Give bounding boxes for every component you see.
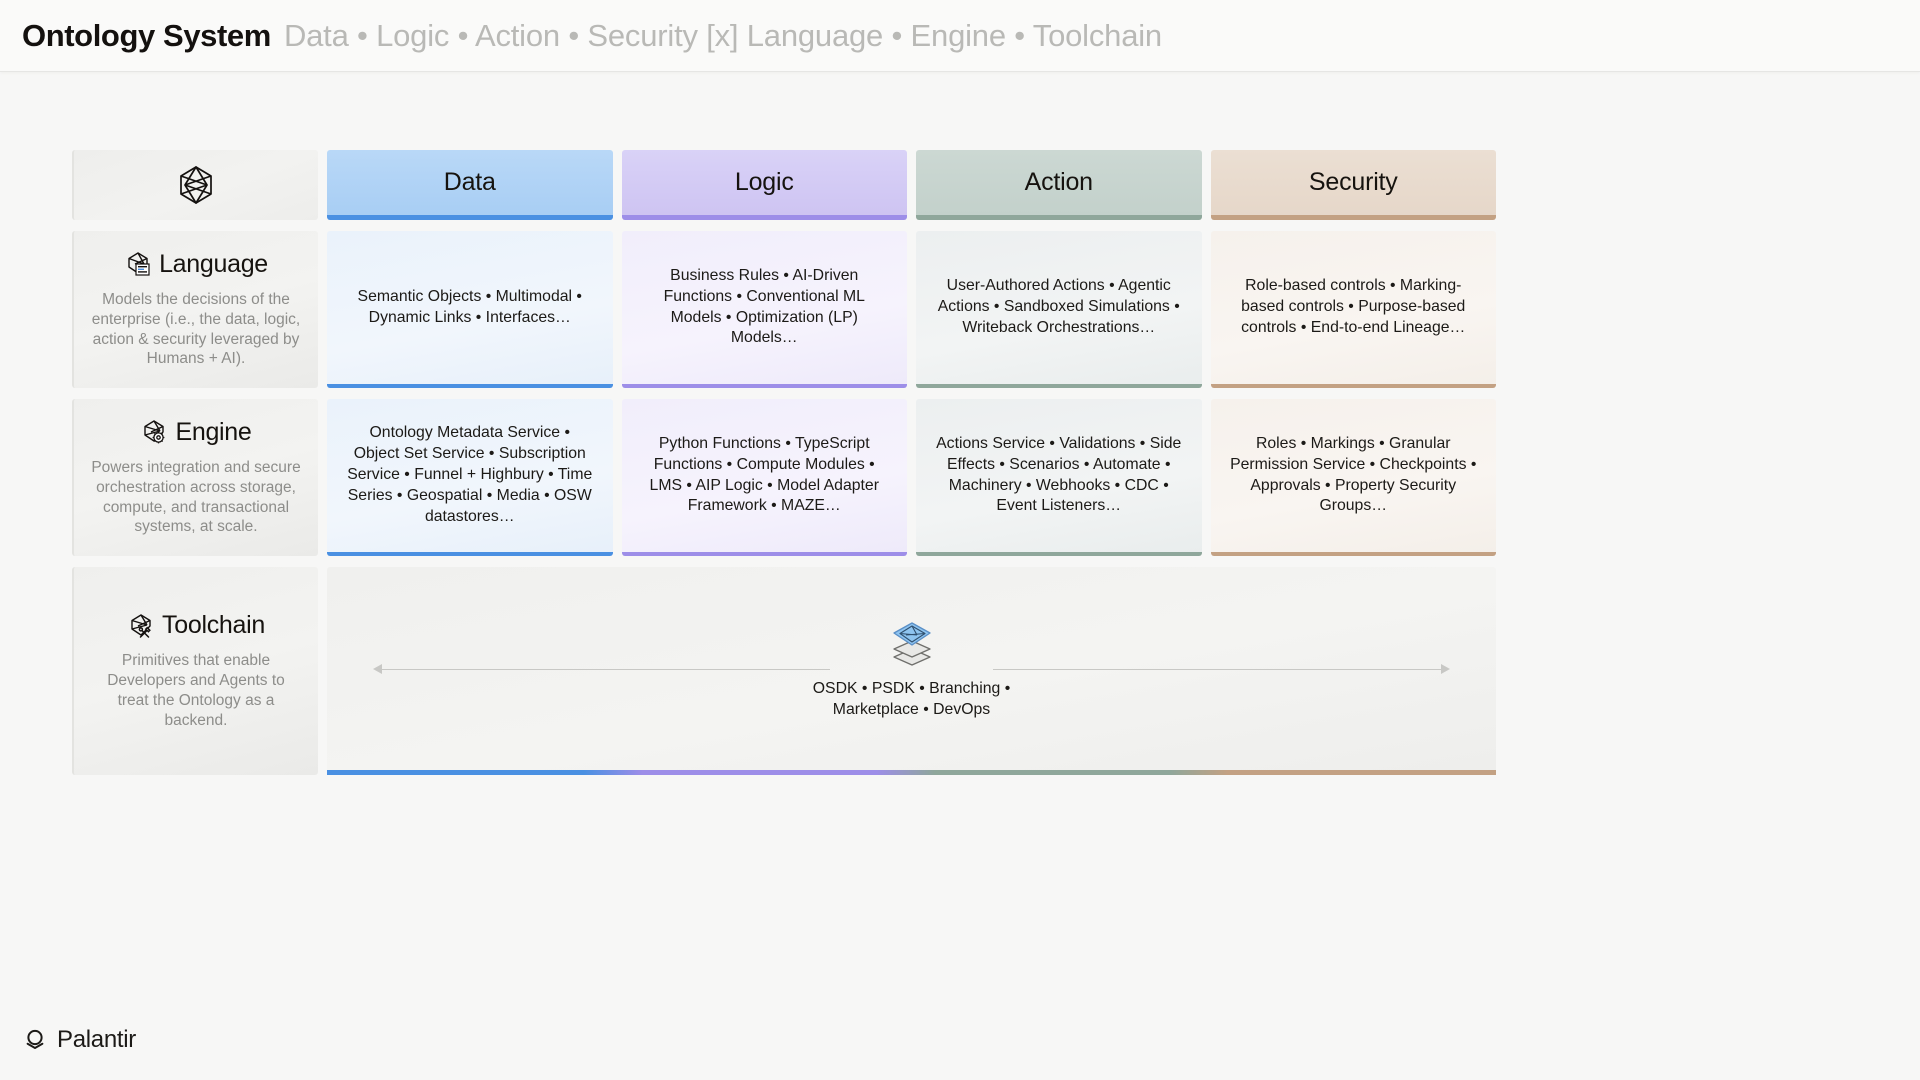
stacked-layers-icon [886, 617, 938, 669]
cell-language-logic[interactable]: Business Rules • AI-Driven Functions • C… [622, 231, 908, 388]
matrix-row-language: Language Models the decisions of the ent… [72, 231, 1496, 388]
matrix-row-toolchain: Toolchain Primitives that enable Develop… [72, 567, 1496, 775]
matrix-row-engine: Engine Powers integration and secure orc… [72, 399, 1496, 556]
row-description: Models the decisions of the enterprise (… [90, 290, 302, 369]
row-description: Powers integration and secure orchestrat… [90, 458, 302, 537]
row-label-text: Language [159, 250, 268, 279]
column-header-security[interactable]: Security [1211, 150, 1497, 220]
cell-engine-data[interactable]: Ontology Metadata Service • Object Set S… [327, 399, 613, 556]
arrow-line-right [993, 669, 1448, 670]
row-label-toolchain[interactable]: Toolchain Primitives that enable Develop… [72, 567, 318, 775]
cell-text: Ontology Metadata Service • Object Set S… [345, 423, 595, 527]
toolchain-span-cell[interactable]: OSDK • PSDK • Branching • Marketplace • … [327, 567, 1496, 775]
toolchain-center-content: OSDK • PSDK • Branching • Marketplace • … [797, 617, 1027, 721]
ontology-tools-icon [127, 612, 155, 640]
cell-text: Business Rules • AI-Driven Functions • C… [640, 266, 890, 349]
row-label-text: Toolchain [162, 611, 265, 640]
palantir-logo-icon [22, 1027, 48, 1053]
cell-engine-action[interactable]: Actions Service • Validations • Side Eff… [916, 399, 1202, 556]
footer-brand: Palantir [22, 1026, 136, 1054]
cell-text: Semantic Objects • Multimodal • Dynamic … [345, 287, 595, 329]
cell-text: Roles • Markings • Granular Permission S… [1229, 434, 1479, 517]
row-label-heading: Toolchain [127, 611, 265, 640]
column-header-label: Security [1309, 168, 1398, 197]
column-header-data[interactable]: Data [327, 150, 613, 220]
matrix-header-row: Data Logic Action Security [72, 150, 1496, 220]
row-label-language[interactable]: Language Models the decisions of the ent… [72, 231, 318, 388]
cell-text: Actions Service • Validations • Side Eff… [934, 434, 1184, 517]
row-label-heading: Engine [140, 418, 251, 447]
matrix-corner-cell [72, 150, 318, 220]
header-subtitle: Data • Logic • Action • Security [x] Lan… [284, 18, 1162, 54]
cell-language-security[interactable]: Role-based controls • Marking-based cont… [1211, 231, 1497, 388]
row-label-engine[interactable]: Engine Powers integration and secure orc… [72, 399, 318, 556]
column-header-logic[interactable]: Logic [622, 150, 908, 220]
cell-text: Role-based controls • Marking-based cont… [1229, 276, 1479, 339]
toolchain-span-text: OSDK • PSDK • Branching • Marketplace • … [797, 679, 1027, 721]
app-header: Ontology System Data • Logic • Action • … [0, 0, 1920, 72]
arrow-head-right-icon [1441, 664, 1450, 674]
column-header-label: Logic [735, 168, 794, 197]
cell-language-action[interactable]: User-Authored Actions • Agentic Actions … [916, 231, 1202, 388]
page-title: Ontology System [22, 18, 271, 54]
brand-name: Palantir [57, 1026, 136, 1054]
column-header-action[interactable]: Action [916, 150, 1202, 220]
arrow-line-left [375, 669, 830, 670]
ontology-polyhedron-icon [174, 163, 218, 207]
cell-text: User-Authored Actions • Agentic Actions … [934, 276, 1184, 339]
row-description: Primitives that enable Developers and Ag… [90, 651, 302, 730]
ontology-gear-icon [140, 418, 168, 446]
row-label-text: Engine [175, 418, 251, 447]
column-header-label: Action [1025, 168, 1093, 197]
cell-engine-logic[interactable]: Python Functions • TypeScript Functions … [622, 399, 908, 556]
cell-engine-security[interactable]: Roles • Markings • Granular Permission S… [1211, 399, 1497, 556]
ontology-document-icon [124, 250, 152, 278]
column-header-label: Data [444, 168, 496, 197]
cell-text: Python Functions • TypeScript Functions … [640, 434, 890, 517]
row-label-heading: Language [124, 250, 268, 279]
arrow-head-left-icon [373, 664, 382, 674]
ontology-matrix: Data Logic Action Security [72, 150, 1496, 786]
cell-language-data[interactable]: Semantic Objects • Multimodal • Dynamic … [327, 231, 613, 388]
